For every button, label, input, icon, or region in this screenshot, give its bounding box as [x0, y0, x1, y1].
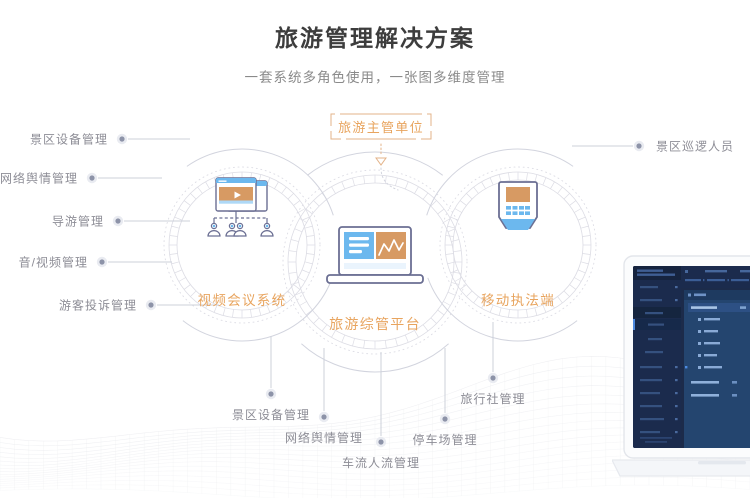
- left-connector-label-2[interactable]: 导游管理: [52, 213, 104, 230]
- bottom-connector-label-3[interactable]: 停车场管理: [412, 431, 477, 448]
- connector-dot: [266, 389, 276, 399]
- left-connector-label-1[interactable]: 网络舆情管理: [0, 170, 78, 187]
- connector-dot: [113, 216, 123, 226]
- connector-dot: [97, 257, 107, 267]
- node-label-tourism-platform[interactable]: 旅游综管平台: [329, 314, 421, 334]
- authority-label: 旅游主管单位: [331, 114, 431, 139]
- connector-lines: [87, 134, 644, 447]
- video-window-icon: [208, 178, 273, 236]
- connector-dot: [146, 300, 156, 310]
- connector-dot: [488, 373, 498, 383]
- connector-dot: [376, 437, 386, 447]
- bottom-connector-label-2[interactable]: 车流人流管理: [342, 454, 420, 471]
- laptop-chart-icon: [327, 227, 423, 283]
- node-label-video-conference[interactable]: 视频会议系统: [198, 289, 287, 309]
- right-connector-label-0[interactable]: 景区巡逻人员: [656, 138, 734, 155]
- bottom-connector-label-1[interactable]: 网络舆情管理: [285, 429, 363, 446]
- connector-dot: [319, 412, 329, 422]
- bottom-connector-label-4[interactable]: 旅行社管理: [460, 390, 525, 407]
- left-connector-label-0[interactable]: 景区设备管理: [30, 131, 108, 148]
- left-connector-label-4[interactable]: 游客投诉管理: [59, 297, 137, 314]
- connector-dot: [87, 173, 97, 183]
- bottom-connector-label-0[interactable]: 景区设备管理: [232, 406, 310, 423]
- connector-dot: [634, 141, 644, 151]
- left-connector-label-3[interactable]: 音/视频管理: [19, 254, 88, 271]
- infographic-page: 旅游管理解决方案 一套系统多角色使用，一张图多维度管理: [0, 0, 750, 498]
- authority-arrow: [376, 144, 386, 165]
- authority-node[interactable]: 旅游主管单位: [331, 114, 431, 139]
- tourism-dashboard-screenshot: [612, 252, 750, 498]
- handheld-device-icon: [499, 182, 537, 230]
- connector-dot: [117, 134, 127, 144]
- node-label-mobile-enforcement[interactable]: 移动执法端: [481, 289, 555, 309]
- connector-dot: [440, 414, 450, 424]
